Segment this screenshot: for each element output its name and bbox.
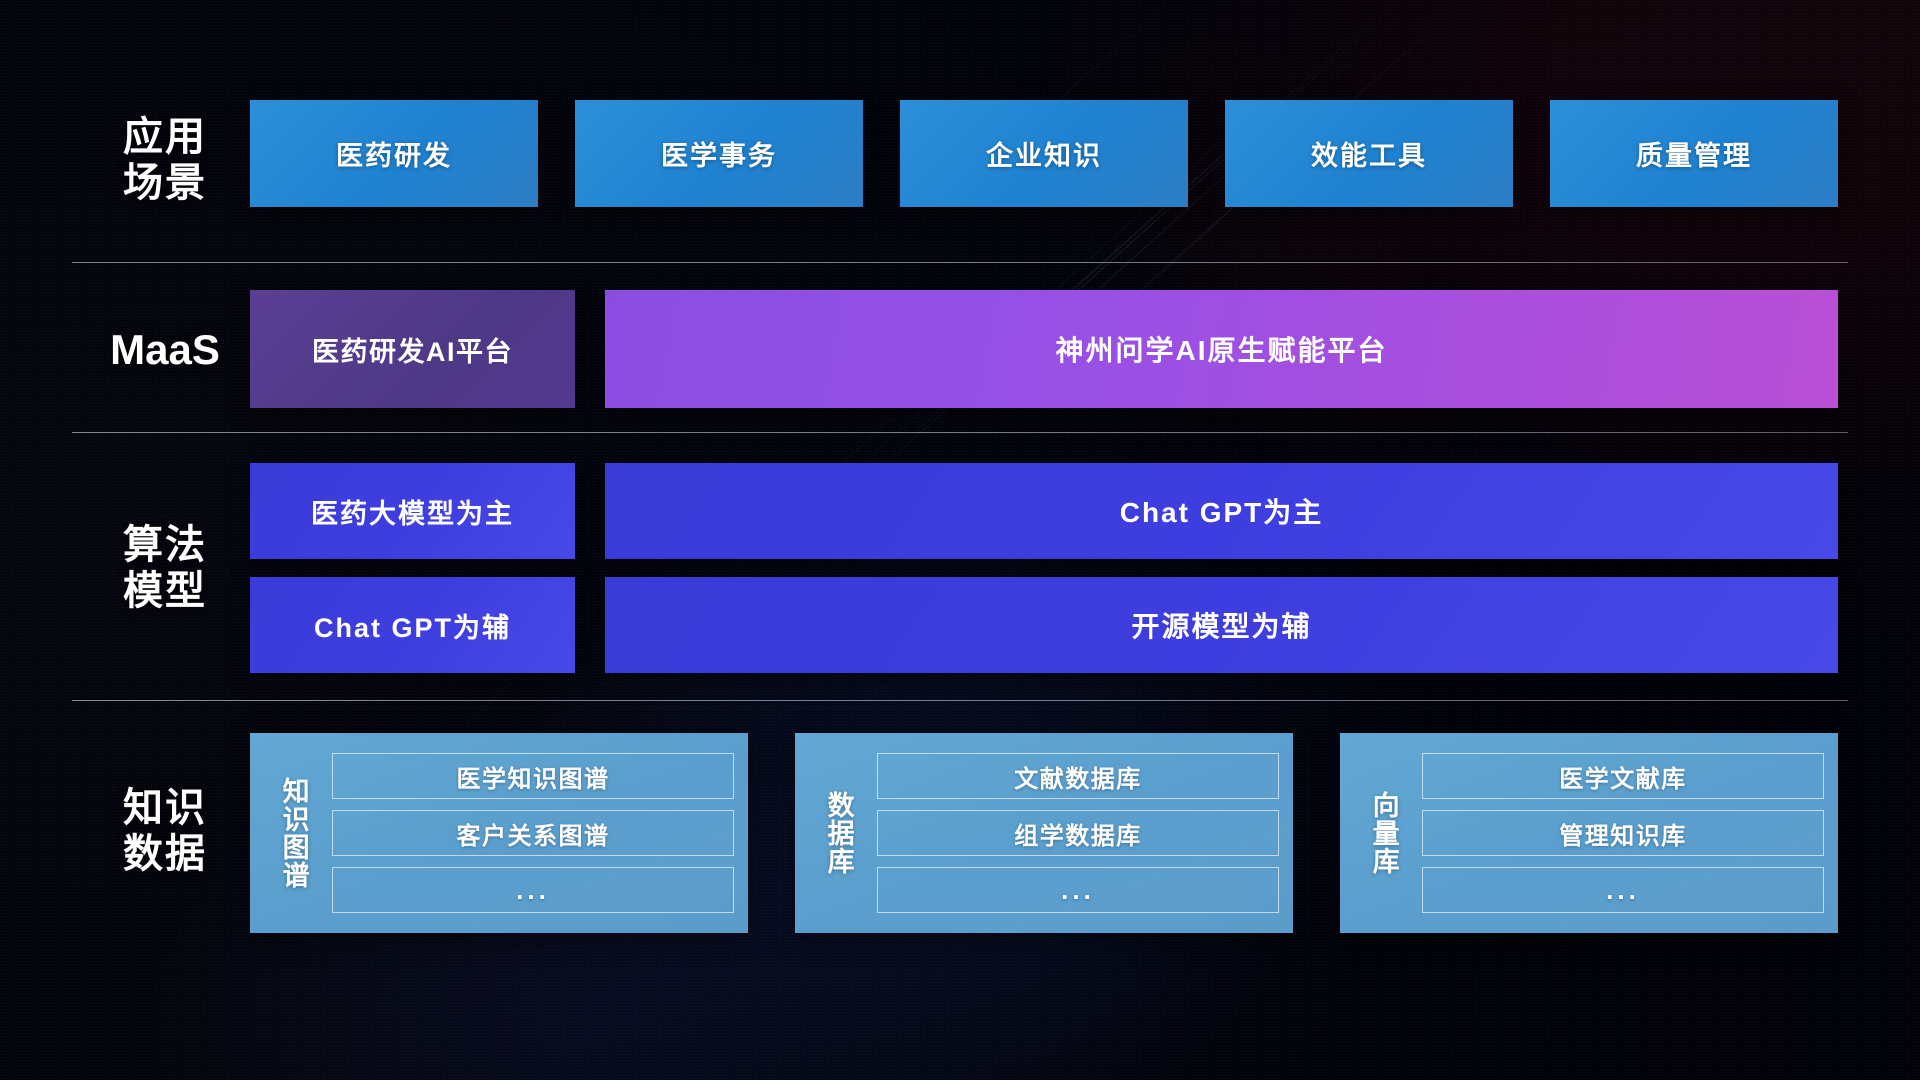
app-scenario-box-4[interactable]: 效能工具: [1225, 100, 1513, 207]
row-label-algorithm-model: 算法 模型: [80, 523, 250, 614]
algo-label: 医药大模型为主: [311, 492, 514, 531]
knowledge-item-more[interactable]: ...: [877, 867, 1279, 913]
divider-3: [72, 700, 1848, 701]
row-label-application-scenario: 应用 场景: [80, 115, 250, 206]
row-label-line: 场景: [80, 161, 250, 207]
knowledge-card-title: 知识图谱: [262, 743, 324, 923]
app-scenario-box-2[interactable]: 医学事务: [575, 100, 863, 207]
maas-right-label: 神州问学AI原生赋能平台: [1055, 329, 1387, 369]
knowledge-item[interactable]: 文献数据库: [877, 753, 1279, 799]
algo-label: 开源模型为辅: [1131, 605, 1311, 645]
knowledge-item[interactable]: 医学文献库: [1422, 753, 1824, 799]
knowledge-card-title: 数据库: [807, 743, 869, 923]
divider-2: [72, 432, 1848, 433]
app-scenario-box-5[interactable]: 质量管理: [1550, 100, 1838, 207]
app-scenario-label: 效能工具: [1311, 134, 1427, 173]
knowledge-item-more[interactable]: ...: [332, 867, 734, 913]
knowledge-card-knowledge-graph[interactable]: 知识图谱 医学知识图谱 客户关系图谱 ...: [250, 733, 748, 933]
knowledge-item-more[interactable]: ...: [1422, 867, 1824, 913]
row-label-line: 算法: [80, 523, 250, 569]
maas-box-shenzhou-platform[interactable]: 神州问学AI原生赋能平台: [605, 290, 1838, 408]
algo-box-primary-left[interactable]: 医药大模型为主: [250, 463, 575, 559]
row-label-line: MaaS: [80, 326, 250, 374]
app-scenario-label: 企业知识: [986, 134, 1102, 173]
app-scenario-box-3[interactable]: 企业知识: [900, 100, 1188, 207]
row-label-maas: MaaS: [80, 326, 250, 374]
row-label-line: 数据: [80, 832, 250, 878]
knowledge-card-items: 医学文献库 管理知识库 ...: [1422, 743, 1824, 923]
row-label-line: 应用: [80, 115, 250, 161]
app-scenario-label: 医学事务: [661, 134, 777, 173]
maas-left-label: 医药研发AI平台: [312, 330, 513, 369]
knowledge-card-items: 医学知识图谱 客户关系图谱 ...: [332, 743, 734, 923]
maas-box-pharma-ai-platform[interactable]: 医药研发AI平台: [250, 290, 575, 408]
knowledge-item[interactable]: 组学数据库: [877, 810, 1279, 856]
row-maas: MaaS 医药研发AI平台 神州问学AI原生赋能平台: [0, 290, 1920, 410]
divider-1: [72, 262, 1848, 263]
knowledge-card-items: 文献数据库 组学数据库 ...: [877, 743, 1279, 923]
row-application-scenario: 应用 场景 医药研发 医学事务 企业知识 效能工具 质量管理: [0, 100, 1920, 210]
algo-box-secondary-right[interactable]: 开源模型为辅: [605, 577, 1838, 673]
algo-box-primary-right[interactable]: Chat GPT为主: [605, 463, 1838, 559]
row-label-line: 知识: [80, 786, 250, 832]
algo-box-secondary-left[interactable]: Chat GPT为辅: [250, 577, 575, 673]
row-algorithm-model: 算法 模型 医药大模型为主 Chat GPT为主 Chat GPT为辅 开源模型…: [0, 463, 1920, 673]
knowledge-card-vector-store[interactable]: 向量库 医学文献库 管理知识库 ...: [1340, 733, 1838, 933]
knowledge-item[interactable]: 医学知识图谱: [332, 753, 734, 799]
algo-label: Chat GPT为辅: [314, 606, 511, 645]
app-scenario-label: 质量管理: [1636, 134, 1752, 173]
knowledge-card-database[interactable]: 数据库 文献数据库 组学数据库 ...: [795, 733, 1293, 933]
knowledge-item[interactable]: 管理知识库: [1422, 810, 1824, 856]
row-label-knowledge-data: 知识 数据: [80, 786, 250, 877]
knowledge-card-title: 向量库: [1352, 743, 1414, 923]
algo-label: Chat GPT为主: [1120, 491, 1324, 531]
app-scenario-box-1[interactable]: 医药研发: [250, 100, 538, 207]
architecture-diagram: 应用 场景 医药研发 医学事务 企业知识 效能工具 质量管理 MaaS 医药研发…: [0, 0, 1920, 1080]
app-scenario-label: 医药研发: [336, 134, 452, 173]
row-label-line: 模型: [80, 569, 250, 615]
knowledge-item[interactable]: 客户关系图谱: [332, 810, 734, 856]
